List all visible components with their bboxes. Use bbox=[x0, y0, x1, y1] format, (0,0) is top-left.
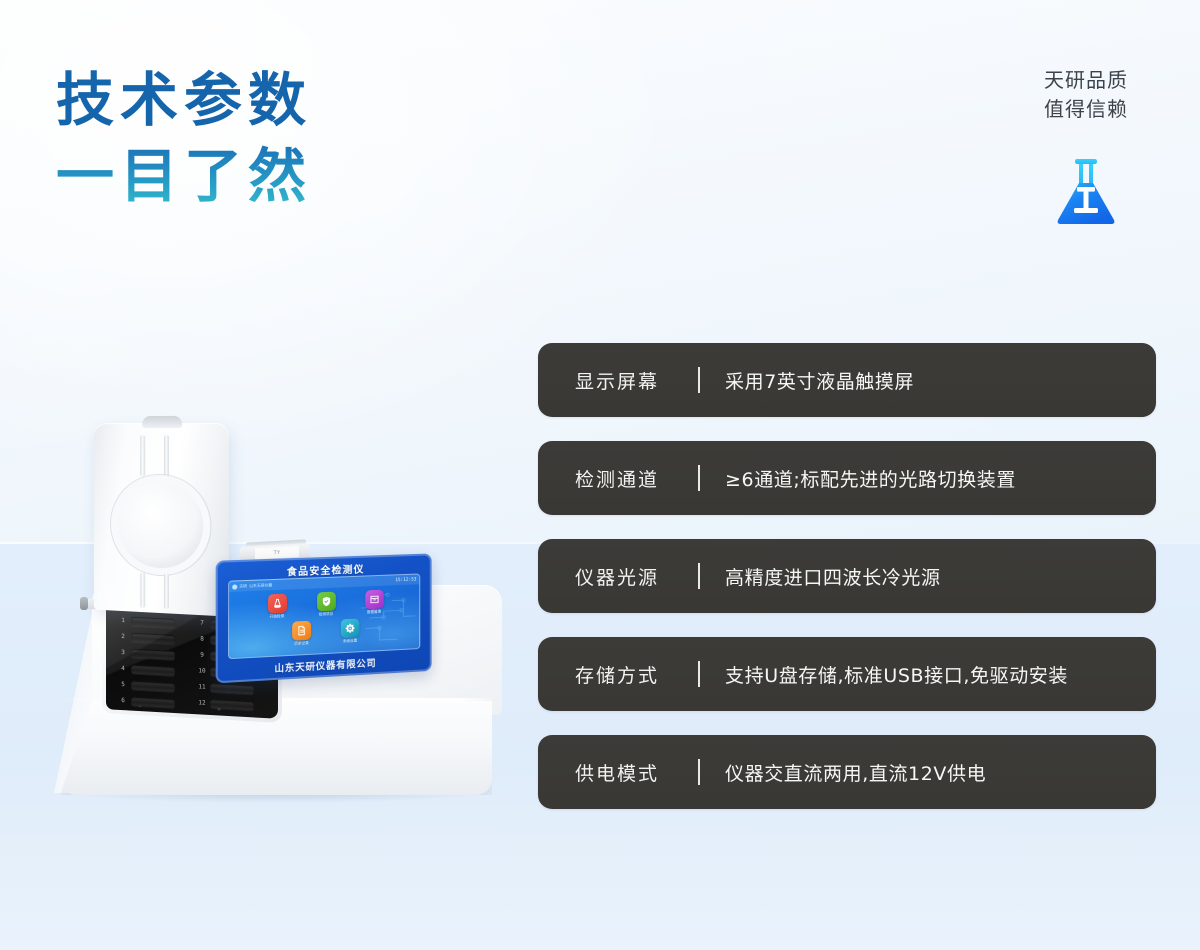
spec-row-channels[interactable]: 检测通道 ≥6通道;标配先进的光路切换装置 bbox=[538, 441, 1156, 515]
spec-value: 支持U盘存储,标准USB接口,免驱动安装 bbox=[725, 661, 1068, 688]
shield-check-icon bbox=[317, 592, 336, 612]
device-lid-hinge-pin bbox=[80, 597, 88, 610]
lcd-app-settings[interactable]: 系统设置 bbox=[334, 618, 365, 644]
well-row[interactable]: 12 bbox=[194, 695, 266, 714]
spec-label: 存储方式 bbox=[538, 661, 698, 688]
well-row[interactable]: 2 bbox=[115, 629, 187, 648]
spec-label: 检测通道 bbox=[538, 465, 698, 492]
brand-slogan-line-1: 天研品质 bbox=[1026, 66, 1146, 95]
folder-archive-icon bbox=[365, 590, 383, 610]
spec-divider bbox=[698, 465, 700, 491]
well-slot[interactable] bbox=[131, 617, 175, 628]
spec-label: 显示屏幕 bbox=[538, 367, 698, 394]
device-lid-ridge bbox=[140, 435, 145, 477]
well-column-left: 1 2 3 4 5 bbox=[115, 613, 187, 713]
well-slot[interactable] bbox=[131, 633, 175, 644]
technical-parameters-page: 技术参数 一目了然 天研品质 值得信赖 bbox=[0, 0, 1200, 950]
lcd-app-label: 开始检测 bbox=[261, 613, 293, 620]
device-lid-tab[interactable] bbox=[142, 416, 182, 428]
well-number: 3 bbox=[115, 649, 131, 657]
lcd-app-test-items[interactable]: 检测项目 bbox=[310, 591, 342, 617]
well-slot[interactable] bbox=[131, 649, 175, 660]
spec-value: 仪器交直流两用,直流12V供电 bbox=[725, 759, 986, 786]
lcd-display[interactable]: 天研 山东天研仪器 15:12:53 开始检测 bbox=[228, 573, 420, 659]
well-number: 4 bbox=[115, 665, 131, 673]
lcd-app-label: 检测项目 bbox=[310, 611, 342, 617]
lcd-app-label: 数据管理 bbox=[358, 609, 389, 615]
well-number: 2 bbox=[115, 633, 131, 641]
well-number: 12 bbox=[194, 699, 210, 707]
device-lid-ridge bbox=[164, 435, 169, 477]
device-lid-ridge bbox=[164, 573, 169, 609]
well-number: 10 bbox=[194, 667, 210, 675]
flask-icon-wrap bbox=[1026, 158, 1146, 231]
lcd-app-label: 历史记录 bbox=[286, 640, 318, 647]
spec-row-power[interactable]: 供电模式 仪器交直流两用,直流12V供电 bbox=[538, 735, 1156, 809]
well-number: 11 bbox=[194, 683, 210, 691]
lcd-status-brand: 天研 bbox=[239, 584, 247, 589]
spec-row-display[interactable]: 显示屏幕 采用7英寸液晶触摸屏 bbox=[538, 343, 1156, 417]
page-title-line-2: 一目了然 bbox=[56, 138, 312, 214]
spec-divider bbox=[698, 661, 700, 687]
flask-bottle-icon bbox=[267, 594, 286, 614]
well-slot[interactable] bbox=[131, 681, 175, 692]
flask-icon bbox=[1055, 158, 1117, 231]
report-list-icon bbox=[292, 621, 311, 641]
food-safety-detector-photo: 1 2 3 4 5 bbox=[40, 415, 520, 815]
well-number: 7 bbox=[194, 619, 210, 627]
spec-divider bbox=[698, 759, 700, 785]
well-slot[interactable] bbox=[210, 683, 254, 694]
device-lid-ridge bbox=[140, 572, 145, 608]
well-row[interactable]: 6 bbox=[115, 693, 187, 712]
spec-value: 采用7英寸液晶触摸屏 bbox=[725, 367, 914, 394]
well-number: 9 bbox=[194, 651, 210, 659]
brand-slogan-line-2: 值得信赖 bbox=[1026, 95, 1146, 124]
spec-row-storage[interactable]: 存储方式 支持U盘存储,标准USB接口,免驱动安装 bbox=[538, 637, 1156, 711]
lcd-app-grid: 开始检测 检测项目 数据管理 bbox=[229, 586, 419, 650]
well-number: 5 bbox=[115, 681, 131, 689]
page-title-line-1: 技术参数 bbox=[56, 62, 312, 138]
lcd-status-left: 天研 山东天研仪器 bbox=[232, 583, 272, 590]
device-lid[interactable] bbox=[94, 423, 229, 617]
spec-divider bbox=[698, 563, 700, 589]
brand-slogan: 天研品质 值得信赖 bbox=[1026, 66, 1146, 231]
device-lid-ring-emboss bbox=[111, 474, 210, 577]
lcd-clock: 15:12:53 bbox=[395, 577, 416, 583]
well-slot[interactable] bbox=[131, 665, 175, 676]
well-number: 6 bbox=[115, 697, 131, 705]
lcd-app-data-manage[interactable]: 数据管理 bbox=[358, 589, 389, 615]
spec-label: 仪器光源 bbox=[538, 563, 698, 590]
spec-label: 供电模式 bbox=[538, 759, 698, 786]
well-row[interactable]: 3 bbox=[115, 645, 187, 664]
spec-row-light-source[interactable]: 仪器光源 高精度进口四波长冷光源 bbox=[538, 539, 1156, 613]
lcd-status-user: 山东天研仪器 bbox=[249, 583, 272, 589]
spec-divider bbox=[698, 367, 700, 393]
well-number: 8 bbox=[194, 635, 210, 643]
gear-settings-icon bbox=[341, 618, 360, 638]
well-number: 1 bbox=[115, 617, 131, 625]
well-slot[interactable] bbox=[210, 699, 254, 710]
touchscreen-bezel: 食品安全检测仪 天研 bbox=[216, 553, 432, 683]
well-slot[interactable] bbox=[131, 697, 175, 708]
spec-list: 显示屏幕 采用7英寸液晶触摸屏 检测通道 ≥6通道;标配先进的光路切换装置 仪器… bbox=[538, 343, 1156, 809]
lcd-app-start-test[interactable]: 开始检测 bbox=[261, 593, 293, 620]
app-logo-icon bbox=[232, 584, 237, 589]
well-row[interactable]: 1 bbox=[115, 613, 187, 632]
spec-value: ≥6通道;标配先进的光路切换装置 bbox=[725, 465, 1016, 492]
well-row[interactable]: 4 bbox=[115, 661, 187, 680]
page-title: 技术参数 一目了然 bbox=[56, 62, 312, 214]
spec-value: 高精度进口四波长冷光源 bbox=[725, 563, 941, 590]
lcd-app-history[interactable]: 历史记录 bbox=[286, 620, 318, 647]
